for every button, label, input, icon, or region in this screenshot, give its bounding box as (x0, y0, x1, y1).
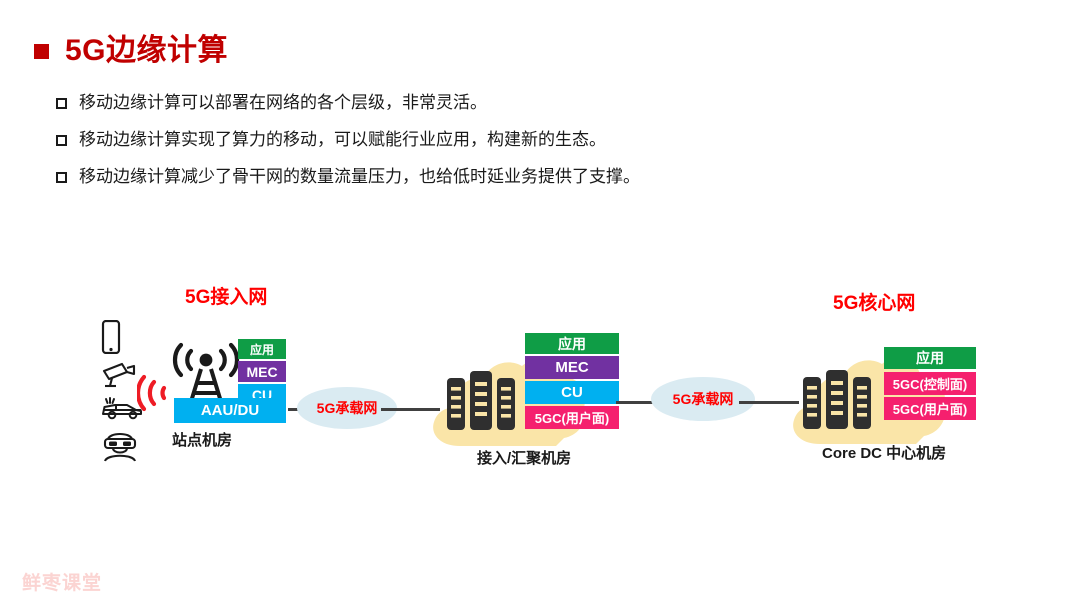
bullet-list: 移动边缘计算可以部署在网络的各个层级，非常灵活。 移动边缘计算实现了算力的移动，… (56, 92, 1016, 203)
network-architecture-diagram: 5G接入网 5G核心网 (0, 255, 1080, 485)
slide-root: 5G边缘计算 移动边缘计算可以部署在网络的各个层级，非常灵活。 移动边缘计算实现… (0, 0, 1080, 608)
transport-network-2: 5G承载网 (651, 377, 755, 421)
square-bullet-icon (34, 44, 49, 59)
core-box-app: 应用 (884, 347, 976, 369)
surveillance-camera-icon (100, 360, 138, 388)
list-item-text: 移动边缘计算实现了算力的移动，可以赋能行业应用，构建新的生态。 (79, 129, 606, 152)
server-rack-icon (802, 367, 874, 433)
server-rack-icon (446, 368, 518, 434)
aggregation-box-cu: CU (525, 381, 619, 404)
list-item-text: 移动边缘计算减少了骨干网的数量流量压力，也给低时延业务提供了支撑。 (79, 166, 640, 189)
access-box-aau-du: AAU/DU (174, 398, 286, 423)
core-network-title: 5G核心网 (833, 288, 915, 315)
hollow-square-bullet-icon (56, 135, 67, 146)
access-box-mec: MEC (238, 361, 286, 382)
aggregation-box-app: 应用 (525, 333, 619, 354)
access-box-app: 应用 (238, 339, 286, 359)
core-site-label: Core DC 中心机房 (822, 442, 946, 463)
core-box-5gc-user-plane: 5GC(用户面) (884, 397, 976, 420)
hollow-square-bullet-icon (56, 172, 67, 183)
list-item: 移动边缘计算实现了算力的移动，可以赋能行业应用，构建新的生态。 (56, 129, 1016, 152)
smartphone-icon (100, 320, 122, 354)
aggregation-box-5gc-user-plane: 5GC(用户面) (525, 406, 619, 429)
list-item-text: 移动边缘计算可以部署在网络的各个层级，非常灵活。 (79, 92, 487, 115)
access-network-title: 5G接入网 (185, 282, 267, 309)
aggregation-box-mec: MEC (525, 356, 619, 379)
vr-headset-user-icon (100, 428, 140, 462)
hollow-square-bullet-icon (56, 98, 67, 109)
aggregation-site-label: 接入/汇聚机房 (477, 447, 571, 468)
list-item: 移动边缘计算可以部署在网络的各个层级，非常灵活。 (56, 92, 1016, 115)
core-box-5gc-control-plane: 5GC(控制面) (884, 372, 976, 395)
access-site-label: 站点机房 (172, 429, 232, 450)
page-title: 5G边缘计算 (34, 36, 228, 66)
transport-network-1-label: 5G承载网 (317, 398, 378, 418)
watermark: 鲜枣课堂 (22, 568, 102, 595)
list-item: 移动边缘计算减少了骨干网的数量流量压力，也给低时延业务提供了支撑。 (56, 166, 1016, 189)
transport-network-2-label: 5G承载网 (673, 389, 734, 409)
page-title-text: 5G边缘计算 (65, 36, 228, 66)
